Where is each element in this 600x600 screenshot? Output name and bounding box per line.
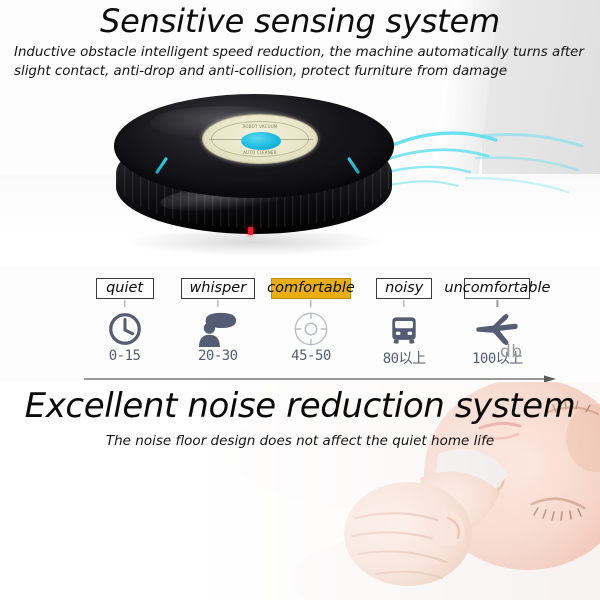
noise-step-uncomfortable: uncomfortable 100以上 [442, 276, 552, 300]
noise-step-label: quiet [106, 279, 143, 298]
noise-step-range: 100以上 [442, 348, 552, 368]
noise-step-label: uncomfortable [444, 279, 550, 298]
robot-label-text-bottom: AUTO CLEANER [203, 150, 317, 155]
robot-top-surface: ROBOT VACUUM AUTO CLEANER [114, 94, 394, 198]
robot-vacuum-image: ROBOT VACUUM AUTO CLEANER [108, 88, 408, 263]
product-marketing-image: Sensitive sensing system Inductive obsta… [0, 0, 600, 600]
db-unit-label: db [500, 342, 523, 362]
robot-led-indicator [248, 227, 253, 235]
robot-label-text-top: ROBOT VACUUM [203, 124, 317, 129]
robot-cyan-accent-left [155, 157, 168, 174]
noise-step-tick [124, 300, 125, 307]
noise-step-label: noisy [385, 279, 423, 298]
noise-step-box-wrap: uncomfortable [442, 276, 552, 300]
noise-step-tick [497, 300, 498, 307]
robot-top-label: ROBOT VACUUM AUTO CLEANER [202, 114, 318, 164]
noise-step-tick [310, 300, 311, 307]
noise-step-label: whisper [189, 279, 246, 298]
sensing-subtitle: Inductive obstacle intelligent speed red… [14, 44, 586, 81]
noise-step-label: comfortable [267, 279, 355, 298]
noise-reduction-section: Excellent noise reduction system The noi… [0, 382, 600, 600]
noise-scale-row: quiet 0-15 whisper 20-30 comfortable 45-… [78, 276, 544, 382]
airplane-icon [442, 308, 552, 348]
sensing-section: Sensitive sensing system Inductive obsta… [0, 0, 600, 266]
noise-reduction-title: Excellent noise reduction system [0, 386, 600, 426]
sensing-title: Sensitive sensing system [0, 2, 600, 40]
noise-scale-section: quiet 0-15 whisper 20-30 comfortable 45-… [0, 266, 600, 382]
robot-cyan-accent-right [347, 157, 360, 174]
noise-reduction-subtitle: The noise floor design does not affect t… [0, 432, 600, 451]
noise-step-tick [217, 300, 218, 307]
noise-step-tick [404, 300, 405, 307]
robot-label-center-dot [241, 132, 281, 150]
